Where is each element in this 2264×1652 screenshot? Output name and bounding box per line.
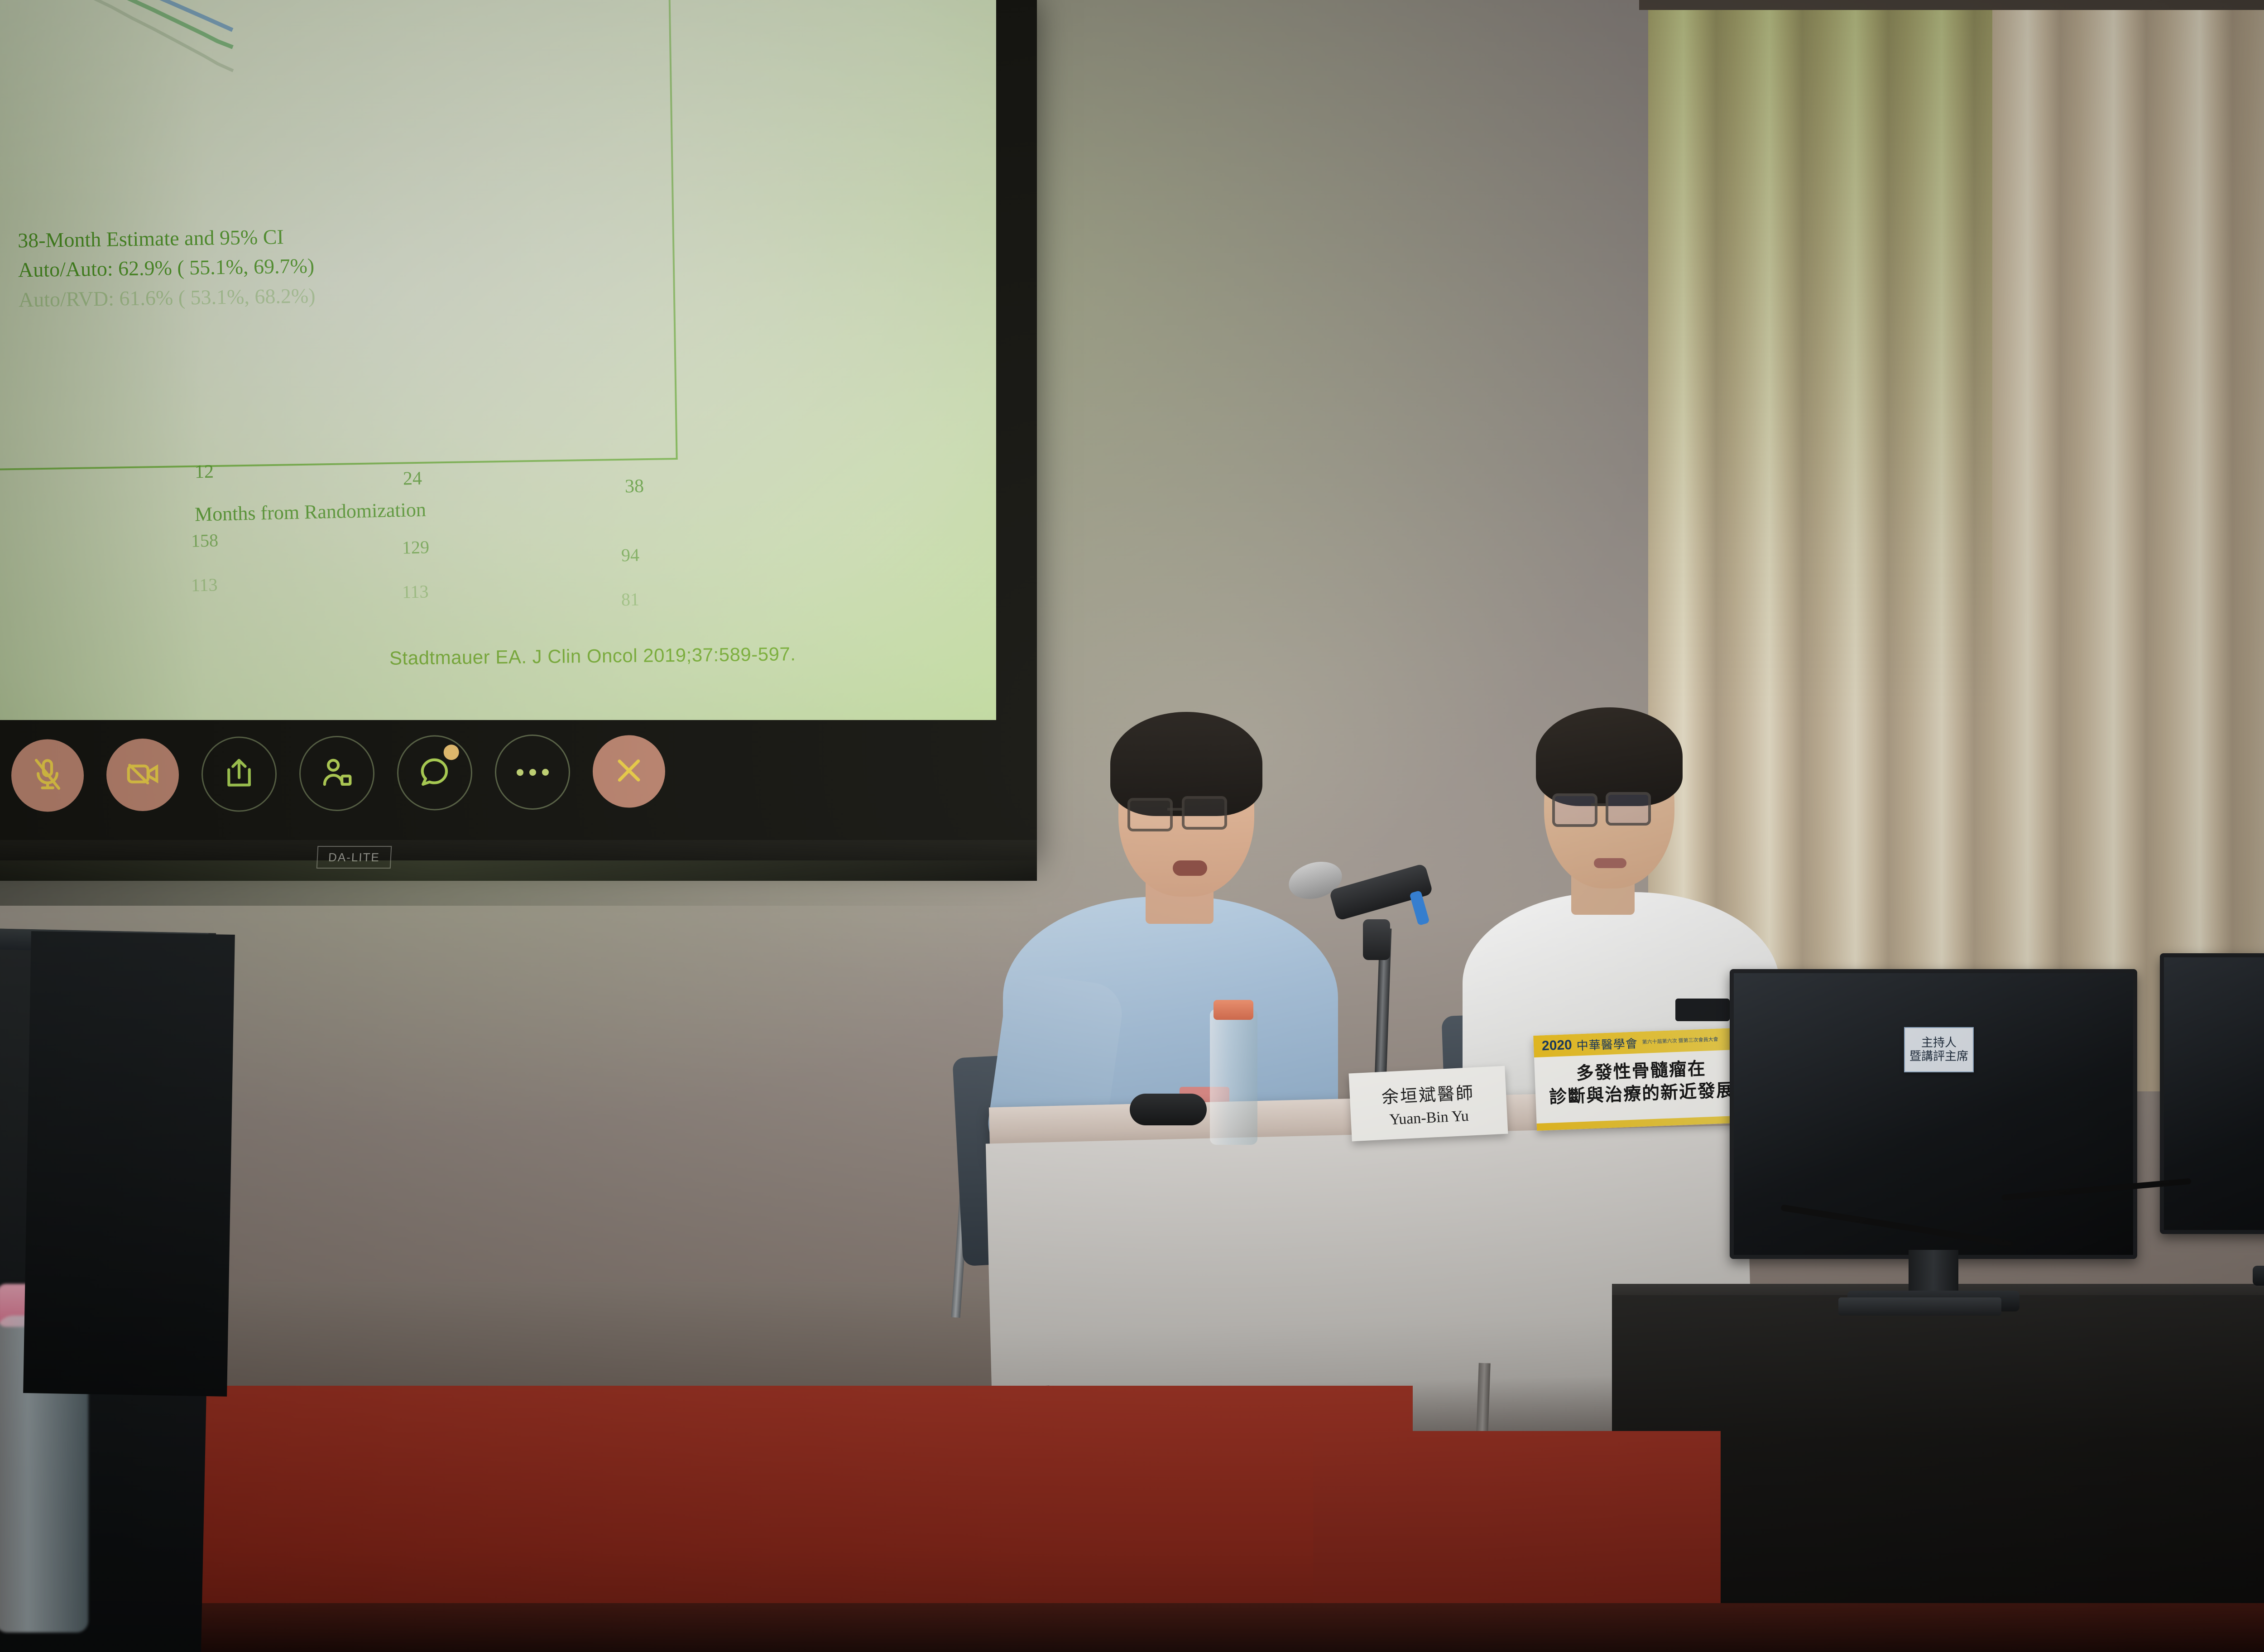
more-options-button[interactable] <box>494 734 570 810</box>
monitor-right-base <box>2253 1266 2264 1286</box>
xtick-24: 24 <box>403 468 422 490</box>
chat-unread-badge <box>444 744 459 760</box>
monitor-right-screen <box>2160 953 2264 1234</box>
leave-meeting-button[interactable] <box>592 735 665 808</box>
floor-shadow <box>0 1603 2264 1652</box>
slide-citation: Stadtmauer EA. J Clin Oncol 2019;37:589-… <box>389 643 796 669</box>
water-bottle-cap <box>1214 1000 1253 1020</box>
curtain-shadow <box>2201 0 2264 1109</box>
glasses-bridge <box>1167 808 1183 811</box>
chat-bubble-icon <box>417 754 453 792</box>
placard-org: 中華醫學會 <box>1576 1034 1638 1053</box>
glasses-lens-right <box>1182 796 1227 830</box>
curtain-rail <box>1639 0 2264 10</box>
foreground-monitor-silhouette <box>23 931 235 1397</box>
placard-title-line1: 多發性骨髓瘤在 <box>1576 1058 1707 1085</box>
more-dots-icon <box>516 768 548 775</box>
mic-muted-button[interactable] <box>11 739 84 812</box>
moderator-glasses <box>1552 793 1671 825</box>
speaker-mouth <box>1173 860 1207 876</box>
glasses-lens-left <box>1127 798 1173 831</box>
projector-screen-bottom-bar <box>0 840 1037 881</box>
xtick-38: 38 <box>625 475 644 498</box>
atrisk-r1-c3: 129 <box>402 536 430 558</box>
atrisk-r2-c3: 113 <box>402 581 429 602</box>
atrisk-r2-c2: 113 <box>191 574 218 595</box>
presentation-slide: 38-Month Estimate and 95% CI Auto/Auto: … <box>0 0 996 720</box>
placard-name-chinese: 余垣斌醫師 <box>1381 1079 1475 1108</box>
water-bottle <box>1210 1009 1257 1145</box>
conference-room-photo: 38-Month Estimate and 95% CI Auto/Auto: … <box>0 0 2264 1652</box>
chat-button[interactable] <box>397 735 472 811</box>
curtain-green-cast <box>1648 0 1992 720</box>
moderator-hair <box>1536 707 1683 806</box>
atrisk-r1-c2: 158 <box>191 529 219 551</box>
placard-year: 2020 <box>1541 1037 1572 1054</box>
glasses-lens-left <box>1552 793 1597 827</box>
projector-screen-surface: 38-Month Estimate and 95% CI Auto/Auto: … <box>0 0 996 720</box>
video-slash-icon <box>125 756 161 794</box>
share-screen-icon <box>221 755 257 793</box>
participants-icon <box>319 754 355 792</box>
placard-name-english: Yuan-Bin Yu <box>1389 1107 1469 1129</box>
speaker-name-placard: 余垣斌醫師 Yuan-Bin Yu <box>1349 1066 1508 1142</box>
atrisk-r1-c4: 94 <box>621 544 640 566</box>
microphone-slash-icon <box>30 757 66 795</box>
talk-title-placard: 2020 中華醫學會 第六十屆第六次 暨第三次會員大會 多發性骨髓瘤在 診斷與治… <box>1533 1028 1750 1131</box>
xtick-12: 12 <box>195 461 214 483</box>
chart-xaxis-label: Months from Randomization <box>195 498 427 526</box>
chart-annotation: 38-Month Estimate and 95% CI Auto/Auto: … <box>18 218 562 315</box>
moderator-pocket-phone <box>1675 999 1730 1021</box>
close-x-icon <box>611 753 647 791</box>
glasses-bridge <box>1591 803 1607 806</box>
camera-off-button[interactable] <box>106 738 179 811</box>
speaker-glasses <box>1127 798 1250 830</box>
atrisk-r2-c4: 81 <box>621 589 640 610</box>
placard-org-sub: 第六十屆第六次 暨第三次會員大會 <box>1642 1037 1718 1045</box>
computer-mouse[interactable] <box>1130 1094 1207 1125</box>
monitor-left-screen <box>1730 969 2137 1259</box>
monitor-label-left: 主持人 暨講評主席 <box>1904 1027 1974 1072</box>
glasses-lens-right <box>1606 792 1651 826</box>
moderator-mouth <box>1594 858 1626 868</box>
video-call-toolbar[interactable] <box>11 734 665 813</box>
microphone-clip <box>1363 919 1390 960</box>
participants-button[interactable] <box>299 735 374 811</box>
keyboard[interactable] <box>1838 1297 2001 1316</box>
projector-brand-badge: DA-LITE <box>317 846 392 869</box>
share-screen-button[interactable] <box>201 736 277 812</box>
